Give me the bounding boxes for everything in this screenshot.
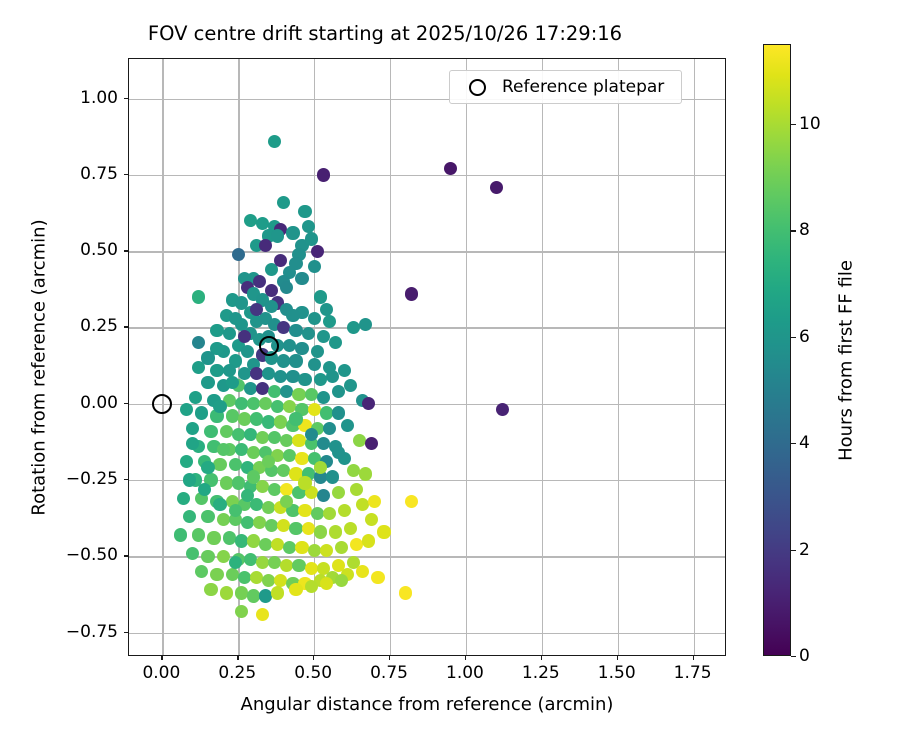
y-tick [124,250,128,251]
colorbar-tick [791,230,796,231]
y-tick [124,403,128,404]
colorbar-label: Hours from first FF file [836,55,857,667]
reference-markers [129,59,725,655]
x-tick [465,656,466,660]
colorbar-tick-label: 0 [799,646,810,666]
legend: Reference platepar [449,70,682,104]
x-tick [617,656,618,660]
y-tick [124,555,128,556]
x-tick [389,656,390,660]
colorbar-tick [791,550,796,551]
y-tick [124,326,128,327]
colorbar-tick-label: 10 [799,114,821,134]
x-tick-label: 1.75 [674,663,712,683]
reference-platepar-marker [152,394,172,414]
figure: FOV centre drift starting at 2025/10/26 … [0,0,900,750]
y-tick-label: 0.25 [80,316,118,336]
y-tick [124,479,128,480]
y-tick-label: 0.75 [80,164,118,184]
y-axis-label: Rotation from reference (arcmin) [29,69,50,667]
colorbar [763,44,791,656]
x-tick [161,656,162,660]
y-tick-label: −0.50 [66,545,118,565]
colorbar-tick [791,443,796,444]
colorbar-tick-label: 2 [799,540,810,560]
x-tick-label: 0.25 [218,663,256,683]
legend-open-circle-icon [469,79,486,96]
x-axis-label: Angular distance from reference (arcmin) [128,694,726,715]
x-tick [313,656,314,660]
y-tick-label: −0.25 [66,469,118,489]
y-tick [124,174,128,175]
y-tick-label: 0.50 [80,240,118,260]
legend-label: Reference platepar [502,77,664,97]
y-tick-label: 1.00 [80,88,118,108]
x-tick-label: 0.75 [370,663,408,683]
x-tick-label: 1.50 [598,663,636,683]
colorbar-tick-label: 6 [799,327,810,347]
y-tick-label: 0.00 [80,393,118,413]
colorbar-tick-label: 8 [799,220,810,240]
colorbar-tick [791,656,796,657]
x-tick [541,656,542,660]
y-tick-label: −0.75 [66,622,118,642]
x-tick-label: 0.00 [142,663,180,683]
reference-platepar-marker [259,336,279,356]
x-tick [237,656,238,660]
colorbar-tick-label: 4 [799,433,810,453]
y-tick [124,98,128,99]
chart-title: FOV centre drift starting at 2025/10/26 … [0,22,770,45]
plot-axes [128,58,726,656]
x-tick-label: 0.50 [294,663,332,683]
colorbar-tick [791,124,796,125]
x-tick [693,656,694,660]
y-tick [124,632,128,633]
x-tick-label: 1.00 [446,663,484,683]
x-tick-label: 1.25 [522,663,560,683]
colorbar-tick [791,337,796,338]
